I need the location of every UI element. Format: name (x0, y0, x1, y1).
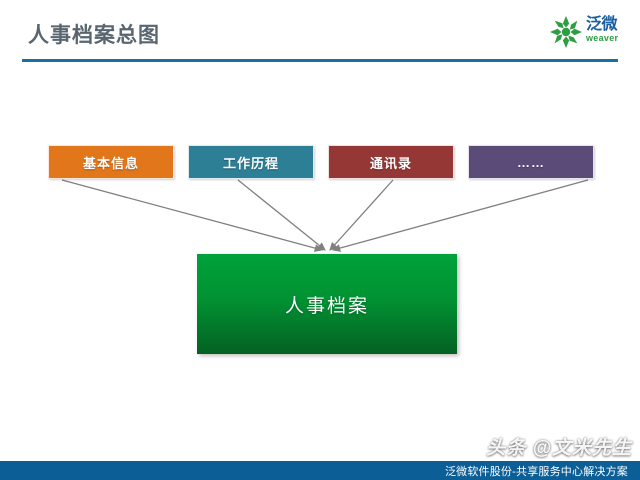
weaver-logo: 泛微 weaver (548, 14, 632, 50)
page-title: 人事档案总图 (28, 19, 160, 49)
watermark-text: 头条 @文米先生 (486, 433, 632, 460)
logo-english-text: weaver (586, 33, 632, 43)
title-divider (22, 59, 618, 62)
connector-line-4 (333, 180, 588, 250)
logo-wordmark: 泛微 weaver (586, 16, 632, 43)
slide-canvas: 人事档案总图 泛微 weaver (0, 0, 640, 480)
logo-chinese-text: 泛微 (586, 16, 632, 33)
box-basic-info-label: 基本信息 (83, 153, 139, 172)
box-ellipsis[interactable]: …… (468, 145, 594, 179)
box-personnel-archive[interactable]: 人事档案 (197, 254, 457, 354)
box-work-history[interactable]: 工作历程 (188, 145, 314, 179)
box-personnel-archive-label: 人事档案 (285, 291, 369, 318)
connector-line-1 (62, 180, 322, 250)
box-work-history-label: 工作历程 (223, 153, 279, 172)
box-contacts-label: 通讯录 (370, 153, 412, 172)
connector-arrows (0, 0, 640, 480)
connector-line-2 (238, 180, 325, 250)
footer-text: 泛微软件股份-共享服务中心解决方案 (445, 463, 628, 479)
box-ellipsis-label: …… (517, 155, 545, 170)
connector-line-3 (330, 180, 393, 250)
box-contacts[interactable]: 通讯录 (328, 145, 454, 179)
box-basic-info[interactable]: 基本信息 (48, 145, 174, 179)
snowflake-asterisk-icon (548, 14, 584, 50)
